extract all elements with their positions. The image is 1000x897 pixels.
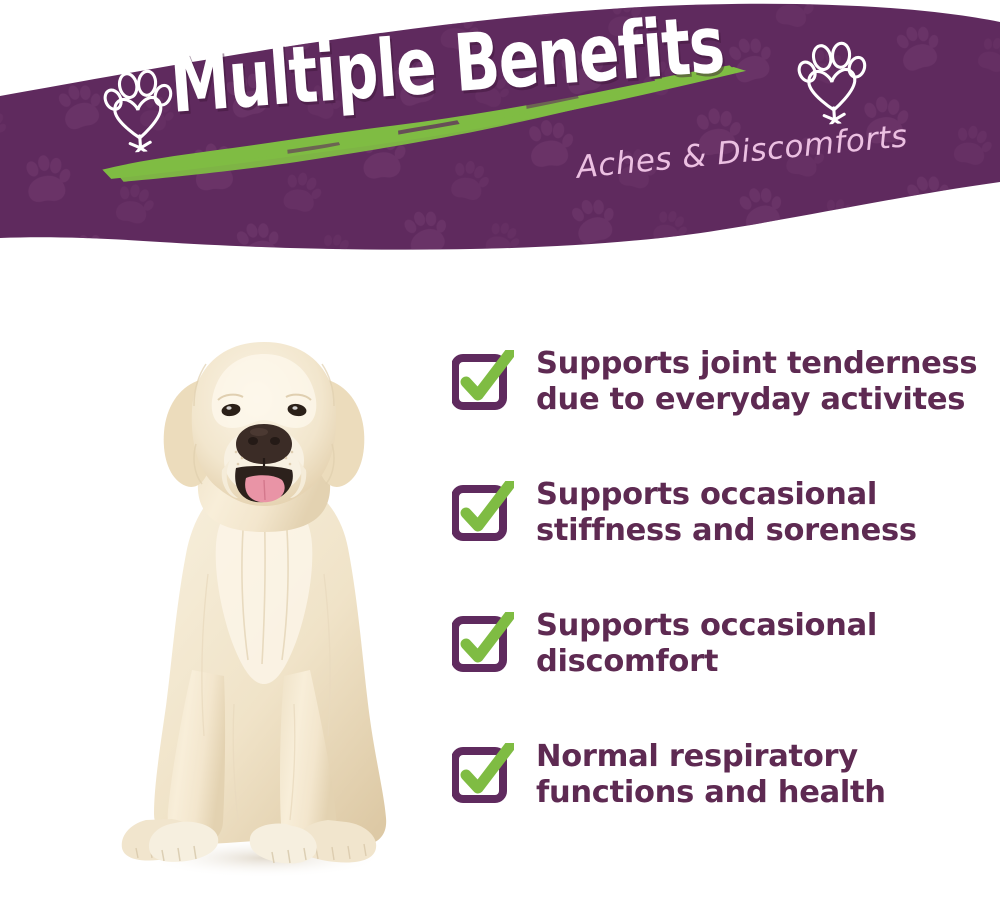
checkbox-checked-icon[interactable] bbox=[452, 350, 514, 412]
benefit-label: Supports occasional discomfort bbox=[536, 604, 877, 679]
header-banner: Multiple Benefits Aches & Discomforts bbox=[0, 0, 1000, 262]
benefit-item: Supports joint tenderness due to everyda… bbox=[452, 342, 982, 437]
benefit-label: Supports occasional stiffness and sorene… bbox=[536, 473, 917, 548]
banner-shape bbox=[0, 0, 1000, 262]
benefit-line: discomfort bbox=[536, 644, 877, 680]
benefit-line: Supports occasional bbox=[536, 608, 877, 644]
main-content: Supports joint tenderness due to everyda… bbox=[0, 262, 1000, 897]
benefit-line: Supports occasional bbox=[536, 477, 917, 513]
benefit-line: due to everyday activites bbox=[536, 382, 977, 418]
benefit-label: Supports joint tenderness due to everyda… bbox=[536, 342, 977, 417]
benefits-list: Supports joint tenderness due to everyda… bbox=[452, 342, 982, 830]
dog-photo bbox=[96, 324, 426, 884]
checkbox-checked-icon[interactable] bbox=[452, 612, 514, 674]
benefit-label: Normal respiratory functions and health bbox=[536, 735, 886, 810]
benefit-item: Supports occasional stiffness and sorene… bbox=[452, 473, 982, 568]
benefit-line: functions and health bbox=[536, 775, 886, 811]
benefit-line: Supports joint tenderness bbox=[536, 346, 977, 382]
benefit-line: stiffness and soreness bbox=[536, 513, 917, 549]
benefit-line: Normal respiratory bbox=[536, 739, 886, 775]
benefit-item: Normal respiratory functions and health bbox=[452, 735, 982, 830]
checkbox-checked-icon[interactable] bbox=[452, 481, 514, 543]
checkbox-checked-icon[interactable] bbox=[452, 743, 514, 805]
benefit-item: Supports occasional discomfort bbox=[452, 604, 982, 699]
